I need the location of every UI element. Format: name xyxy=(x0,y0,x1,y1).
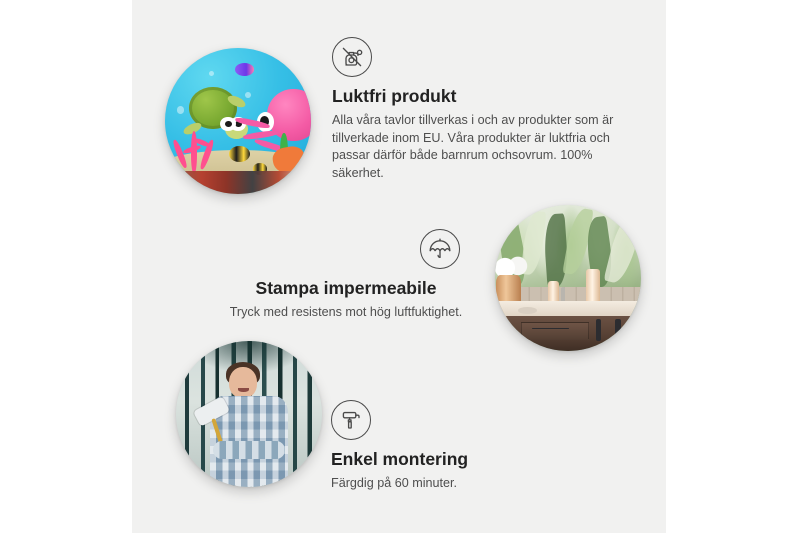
circular-photo-bathroom-leaf-wallpaper xyxy=(495,205,641,351)
feature-title: Luktfri produkt xyxy=(332,86,632,107)
no-fragrance-icon xyxy=(332,37,372,77)
circular-photo-underwater-cartoon xyxy=(165,48,311,194)
purple-fish xyxy=(235,63,254,76)
umbrella-icon xyxy=(420,229,460,269)
coral xyxy=(174,124,221,174)
photo-bottom-strip xyxy=(165,171,311,194)
feature-easy-mounting: Enkel montering Färgdig på 60 minuter. xyxy=(331,400,591,493)
feature-body: Alla våra tavlor tillverkas i och av pro… xyxy=(332,112,632,182)
feature-body: Färgdig på 60 minuter. xyxy=(331,475,591,493)
yellow-fish xyxy=(229,146,249,162)
circular-photo-woman-paint-roller-forest xyxy=(176,341,322,487)
toiletry-bottle xyxy=(586,269,601,306)
feature-title: Enkel montering xyxy=(331,449,591,470)
feature-body: Tryck med resistens mot hög luftfuktighe… xyxy=(215,304,477,322)
feature-odorless: Luktfri produkt Alla våra tavlor tillver… xyxy=(332,37,632,182)
feature-waterproof: Stampa impermeabile Tryck med resistens … xyxy=(215,229,477,322)
paint-roller-icon xyxy=(331,400,371,440)
wood-vanity-cabinet xyxy=(501,316,641,351)
woman-figure xyxy=(208,367,290,487)
feature-title: Stampa impermeabile xyxy=(215,278,477,299)
product-feature-infographic: Luktfri produkt Alla våra tavlor tillver… xyxy=(0,0,800,533)
bubble-icon xyxy=(177,106,184,113)
